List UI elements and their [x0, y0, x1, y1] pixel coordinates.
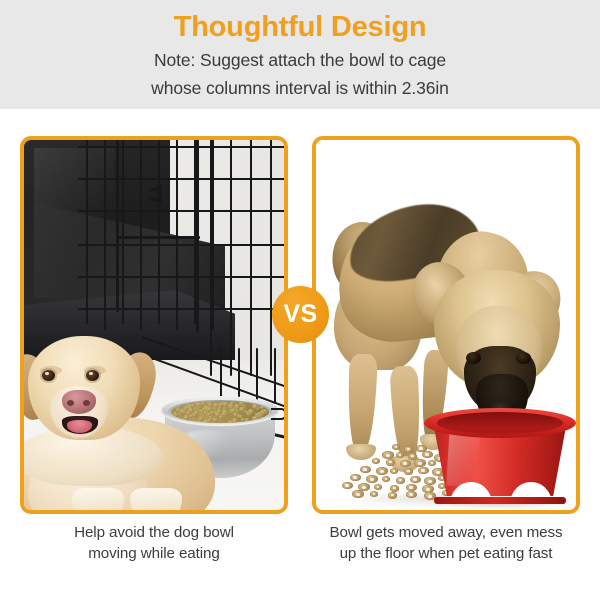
kibble-ring	[360, 466, 371, 473]
kibble-ring	[396, 477, 405, 484]
kibble-ring	[408, 453, 417, 460]
dog-nostril-right	[83, 400, 90, 406]
page-title: Thoughtful Design	[0, 9, 600, 45]
subtitle-line-2: whose columns interval is within 2.36in	[0, 76, 600, 101]
dog-paw-left	[72, 488, 124, 510]
vs-badge: VS	[272, 286, 329, 343]
kibble-ring	[370, 491, 378, 497]
kibble-pellet	[259, 401, 264, 405]
caption-left: Help avoid the dog bowl moving while eat…	[20, 522, 288, 564]
kibble-pellet	[245, 418, 249, 422]
caption-left-line-1: Help avoid the dog bowl	[20, 522, 288, 543]
chihuahua-eye-right	[516, 352, 531, 364]
dog-eye-glint-left	[45, 372, 49, 375]
chihuahua-front-leg-left	[346, 354, 377, 453]
kibble-pellet	[228, 420, 234, 423]
dog-nose	[62, 390, 96, 414]
comparison-panel-left	[20, 136, 288, 514]
kibble-ring	[404, 446, 413, 453]
header-banner: Thoughtful Design Note: Suggest attach t…	[0, 0, 600, 109]
kibble-pellet	[260, 410, 266, 415]
dog-paw-right	[130, 488, 182, 510]
kibble-ring	[400, 460, 411, 467]
bowl-mount-hook	[271, 408, 284, 420]
kibble-ring	[390, 485, 399, 492]
kibble-pellet	[223, 407, 227, 410]
comparison-panel-right	[312, 136, 580, 514]
kibble-ring	[342, 482, 353, 489]
kibble-ring	[376, 467, 388, 475]
cage-door-frame-bottom	[116, 236, 200, 239]
red-bowl-base-ring	[434, 497, 566, 504]
dog-eye-glint-right	[89, 372, 93, 375]
caption-right-line-1: Bowl gets moved away, even mess	[304, 522, 588, 543]
red-bowl-opening	[437, 412, 563, 434]
kibble-ring	[404, 468, 413, 475]
caption-right-line-2: up the floor when pet eating fast	[304, 543, 588, 564]
vs-label: VS	[272, 286, 329, 343]
kibble-ring	[350, 474, 361, 481]
infographic-page: Thoughtful Design Note: Suggest attach t…	[0, 0, 600, 600]
dog-nostril-left	[67, 400, 74, 406]
red-plastic-bowl	[424, 408, 576, 504]
kibble-ring	[410, 476, 421, 483]
left-scene	[24, 140, 284, 510]
kibble-ring	[392, 444, 400, 450]
golden-retriever	[24, 336, 220, 510]
kibble-ring	[390, 468, 398, 474]
kibble-pellet	[252, 416, 258, 421]
dog-eye-right	[86, 370, 99, 381]
kibble-ring	[352, 490, 364, 498]
kibble-pellet	[239, 407, 245, 412]
right-scene	[316, 140, 576, 510]
caption-right: Bowl gets moved away, even mess up the f…	[304, 522, 588, 564]
kibble-ring	[382, 451, 394, 459]
kibble-ring	[396, 452, 404, 458]
kibble-pellet	[252, 404, 258, 409]
kibble-ring	[366, 475, 378, 483]
caption-left-line-2: moving while eating	[20, 543, 288, 564]
kibble-ring	[386, 459, 395, 466]
chihuahua-eye-left	[466, 352, 481, 364]
kibble-ring	[388, 492, 397, 499]
kibble-ring	[382, 476, 390, 482]
dog-eye-left	[42, 370, 55, 381]
kibble-pellet	[248, 409, 254, 414]
cage-door-frame-left	[116, 140, 119, 312]
subtitle-line-1: Note: Suggest attach the bowl to cage	[0, 48, 600, 73]
kibble-ring	[374, 484, 382, 490]
kibble-ring	[406, 491, 417, 498]
kibble-ring	[372, 458, 380, 464]
